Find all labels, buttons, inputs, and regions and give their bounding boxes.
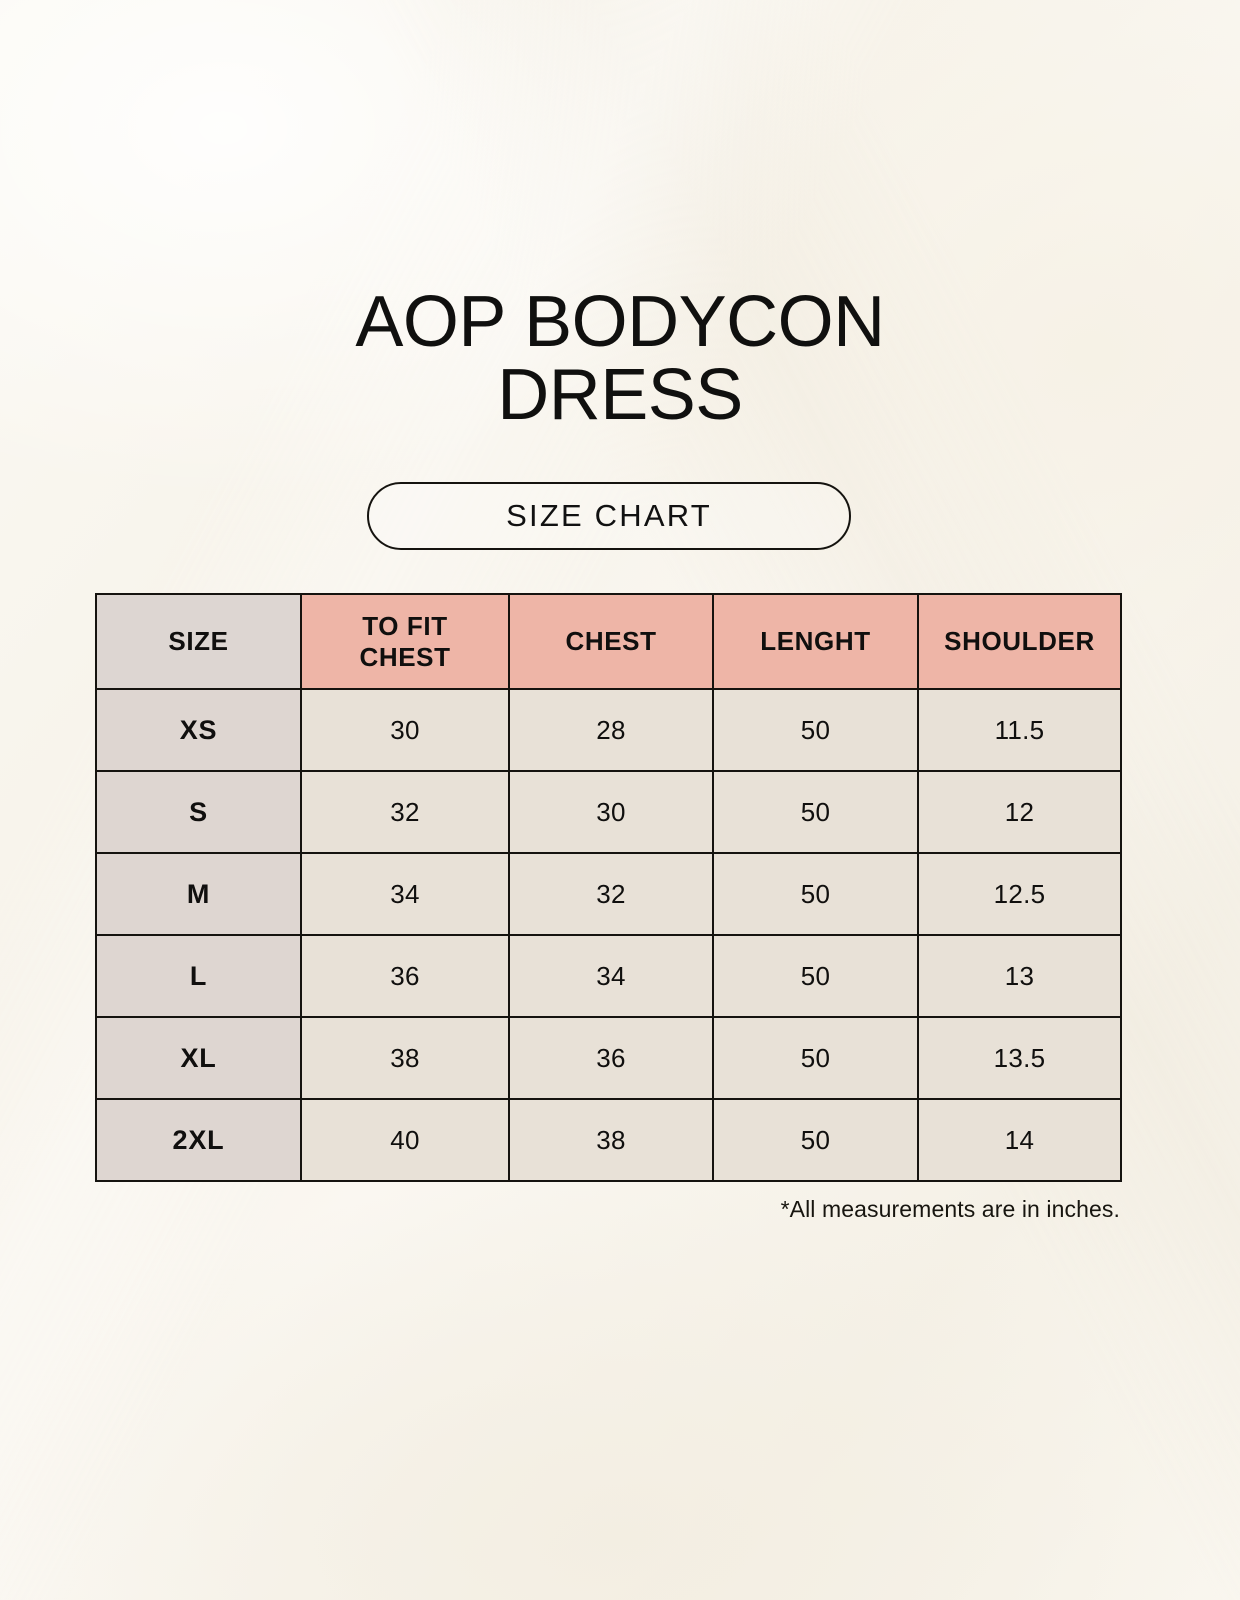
size-table: SIZE TO FIT CHEST CHEST LENGHT SHOULDER … xyxy=(95,593,1122,1182)
table-row: 2XL 40 38 50 14 xyxy=(96,1099,1121,1181)
cell-lenght: 50 xyxy=(713,771,918,853)
table-row: XL 38 36 50 13.5 xyxy=(96,1017,1121,1099)
cell-size: M xyxy=(96,853,301,935)
cell-shoulder: 13 xyxy=(918,935,1121,1017)
cell-size: S xyxy=(96,771,301,853)
cell-shoulder: 12.5 xyxy=(918,853,1121,935)
column-header-lenght: LENGHT xyxy=(713,594,918,689)
cell-chest: 30 xyxy=(509,771,713,853)
cell-lenght: 50 xyxy=(713,853,918,935)
cell-to-fit-chest: 38 xyxy=(301,1017,509,1099)
cell-size: 2XL xyxy=(96,1099,301,1181)
cell-to-fit-chest: 32 xyxy=(301,771,509,853)
size-chart-page: AOP BODYCON DRESS SIZE CHART SIZE TO FIT… xyxy=(0,0,1240,1600)
column-header-size: SIZE xyxy=(96,594,301,689)
cell-chest: 34 xyxy=(509,935,713,1017)
size-table-container: SIZE TO FIT CHEST CHEST LENGHT SHOULDER … xyxy=(95,593,1120,1182)
cell-lenght: 50 xyxy=(713,1099,918,1181)
column-header-chest: CHEST xyxy=(509,594,713,689)
cell-size: L xyxy=(96,935,301,1017)
cell-chest: 32 xyxy=(509,853,713,935)
cell-to-fit-chest: 40 xyxy=(301,1099,509,1181)
cell-shoulder: 14 xyxy=(918,1099,1121,1181)
table-row: XS 30 28 50 11.5 xyxy=(96,689,1121,771)
table-header-row: SIZE TO FIT CHEST CHEST LENGHT SHOULDER xyxy=(96,594,1121,689)
cell-size: XL xyxy=(96,1017,301,1099)
size-table-body: XS 30 28 50 11.5 S 32 30 50 12 M 34 32 xyxy=(96,689,1121,1181)
table-row: L 36 34 50 13 xyxy=(96,935,1121,1017)
cell-size: XS xyxy=(96,689,301,771)
size-chart-badge: SIZE CHART xyxy=(367,482,851,550)
cell-to-fit-chest: 36 xyxy=(301,935,509,1017)
cell-shoulder: 11.5 xyxy=(918,689,1121,771)
cell-shoulder: 13.5 xyxy=(918,1017,1121,1099)
cell-chest: 36 xyxy=(509,1017,713,1099)
cell-chest: 38 xyxy=(509,1099,713,1181)
column-header-shoulder: SHOULDER xyxy=(918,594,1121,689)
page-title: AOP BODYCON DRESS xyxy=(0,286,1240,433)
cell-lenght: 50 xyxy=(713,935,918,1017)
table-row: M 34 32 50 12.5 xyxy=(96,853,1121,935)
cell-shoulder: 12 xyxy=(918,771,1121,853)
cell-to-fit-chest: 30 xyxy=(301,689,509,771)
cell-lenght: 50 xyxy=(713,689,918,771)
measurements-footnote: *All measurements are in inches. xyxy=(95,1196,1120,1223)
cell-chest: 28 xyxy=(509,689,713,771)
column-header-to-fit-chest: TO FIT CHEST xyxy=(301,594,509,689)
cell-lenght: 50 xyxy=(713,1017,918,1099)
cell-to-fit-chest: 34 xyxy=(301,853,509,935)
table-row: S 32 30 50 12 xyxy=(96,771,1121,853)
size-chart-badge-label: SIZE CHART xyxy=(506,498,712,534)
